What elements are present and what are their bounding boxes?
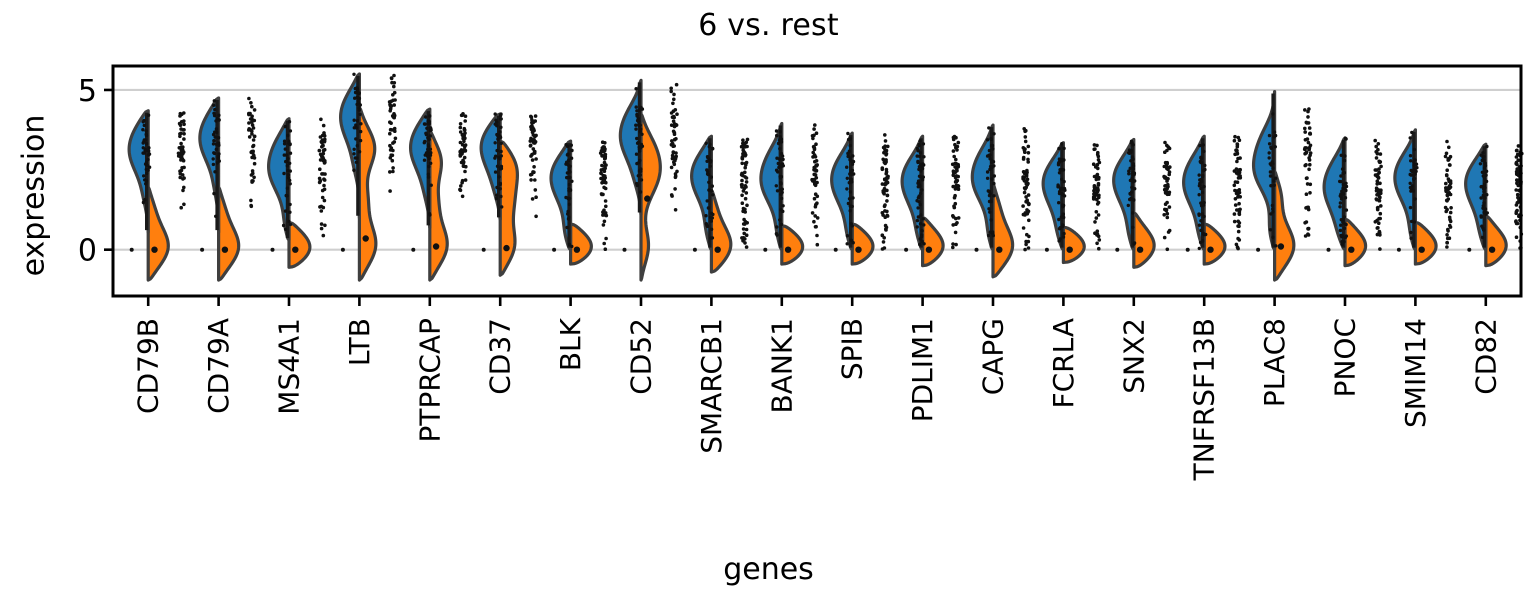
scatter-point <box>143 139 146 142</box>
violin-half-rest[interactable] <box>1345 219 1366 265</box>
scatter-point <box>391 159 395 163</box>
scatter-point <box>1446 157 1450 161</box>
x-tick-label-cd79b[interactable]: CD79B <box>132 318 165 414</box>
violin-half-rest[interactable] <box>1134 213 1154 267</box>
scatter-point <box>1236 191 1240 195</box>
scatter-point <box>846 155 849 158</box>
rest-median-dot <box>1207 247 1213 253</box>
x-tick-label-cd79a[interactable]: CD79A <box>202 318 235 414</box>
baseline-dot <box>341 248 345 252</box>
scatter-point <box>741 138 745 142</box>
scatter-point <box>424 132 427 135</box>
scatter-point <box>495 149 498 152</box>
scatter-point <box>1344 236 1347 239</box>
scatter-point <box>635 105 638 108</box>
x-tick-label-smim14[interactable]: SMIM14 <box>1399 318 1432 428</box>
scatter-point <box>1269 170 1272 173</box>
scatter-point <box>288 179 291 182</box>
scatter-point <box>778 218 781 221</box>
scatter-point <box>570 149 573 152</box>
scatter-point <box>1163 150 1167 154</box>
scatter-point <box>146 169 149 172</box>
scatter-point <box>813 160 817 164</box>
rest-median-dot <box>1419 247 1425 253</box>
x-tick-label-capg[interactable]: CAPG <box>977 318 1010 395</box>
scatter-point <box>1343 159 1346 162</box>
scatter-point <box>1413 197 1416 200</box>
scatter-point <box>566 212 569 215</box>
scatter-point <box>881 247 885 251</box>
scatter-point <box>916 219 919 222</box>
scatter-point <box>918 185 921 188</box>
scatter-point <box>534 114 538 118</box>
scatter-point <box>743 142 747 146</box>
scatter-point <box>1237 202 1241 206</box>
x-tick-label-blk[interactable]: BLK <box>554 317 587 371</box>
scatter-point <box>1268 151 1271 154</box>
scatter-point <box>851 163 854 166</box>
scatter-point <box>1479 162 1482 165</box>
violin-plot-figure: 6 vs. rest expression genes 05 CD79BCD79… <box>0 0 1537 609</box>
scatter-point <box>1447 177 1451 181</box>
scatter-point <box>283 140 286 143</box>
x-tick-label-ptprcap[interactable]: PTPRCAP <box>413 318 446 443</box>
scatter-point <box>847 202 850 205</box>
violin-half-rest[interactable] <box>1415 223 1436 265</box>
scatter-point <box>1021 204 1025 208</box>
scatter-point <box>564 196 567 199</box>
scatter-point <box>1023 150 1027 154</box>
scatter-point <box>499 114 502 117</box>
baseline-dot <box>411 248 415 252</box>
scatter-point <box>1166 167 1170 171</box>
scatter-point <box>1166 216 1170 220</box>
scatter-point <box>289 182 292 185</box>
scatter-point <box>178 169 182 173</box>
baseline-dot <box>482 248 486 252</box>
violin-half-rest[interactable] <box>923 218 943 266</box>
violin-half-rest[interactable] <box>782 226 803 264</box>
scatter-point <box>1339 229 1342 232</box>
scatter-point <box>358 113 361 116</box>
scatter-point <box>1163 236 1167 240</box>
scatter-point <box>673 138 677 142</box>
violin-half-rest[interactable] <box>430 131 447 280</box>
scatter-point <box>952 136 956 140</box>
violin-half-rest[interactable] <box>852 224 873 264</box>
scatter-point <box>990 144 993 147</box>
scatter-point <box>1338 205 1341 208</box>
scatter-point <box>494 170 497 173</box>
scatter-point <box>1379 212 1383 216</box>
scatter-point <box>957 187 961 191</box>
scatter-point <box>673 163 677 167</box>
scatter-point <box>1026 183 1030 187</box>
violin-half-rest[interactable] <box>641 114 660 280</box>
scatter-point <box>988 210 991 213</box>
scatter-point <box>494 119 497 122</box>
baseline-dot <box>130 248 134 252</box>
scatter-point <box>1131 173 1134 176</box>
scatter-point <box>603 166 607 170</box>
scatter-point <box>248 135 252 139</box>
scatter-point <box>639 124 642 127</box>
scatter-point <box>534 188 538 192</box>
scatter-point <box>601 140 605 144</box>
scatter-point <box>778 147 781 150</box>
scatter-point <box>955 174 959 178</box>
scatter-point <box>1409 182 1412 185</box>
scatter-point <box>604 211 608 215</box>
scatter-point <box>1379 192 1383 196</box>
scatter-point <box>1413 148 1416 151</box>
scatter-point <box>1234 148 1238 152</box>
scatter-point <box>148 152 151 155</box>
scatter-point <box>1445 168 1449 172</box>
scatter-point <box>814 181 818 185</box>
scatter-point <box>390 100 394 104</box>
violin-group-cd79a[interactable] <box>200 98 239 280</box>
scatter-point <box>954 231 958 235</box>
scatter-point <box>288 120 291 123</box>
violin-half-rest[interactable] <box>993 184 1013 277</box>
scatter-point <box>322 206 326 210</box>
scatter-point <box>1409 206 1412 209</box>
scatter-point <box>282 172 285 175</box>
scatter-point <box>529 178 533 182</box>
scatter-point <box>639 127 642 130</box>
scatter-point <box>319 118 323 122</box>
violin-half-rest[interactable] <box>289 223 310 268</box>
x-tick-label-pdlim1[interactable]: PDLIM1 <box>906 318 939 422</box>
scatter-point <box>426 120 429 123</box>
x-tick-label-bank1[interactable]: BANK1 <box>765 318 798 413</box>
x-tick-label-smarcb1[interactable]: SMARCB1 <box>695 318 728 454</box>
scatter-point <box>741 174 745 178</box>
violin-half-rest[interactable] <box>711 191 730 272</box>
x-tick-label-cd37[interactable]: CD37 <box>484 318 517 395</box>
violin-group-tnfrsf13b[interactable] <box>1184 136 1225 264</box>
scatter-point <box>1482 201 1485 204</box>
x-tick-label-pnoc[interactable]: PNOC <box>1329 318 1362 397</box>
scatter-point <box>1272 179 1275 182</box>
scatter-point <box>815 131 819 135</box>
violin-group-cd79b[interactable] <box>129 111 168 280</box>
scatter-point <box>1202 185 1205 188</box>
scatter-point <box>567 216 570 219</box>
scatter-point <box>1339 194 1342 197</box>
scatter-point <box>604 247 608 251</box>
scatter-point <box>1343 227 1346 230</box>
scatter-point <box>392 103 396 107</box>
scatter-point <box>1233 189 1237 193</box>
scatter-point <box>957 165 961 169</box>
scatter-point <box>423 159 426 162</box>
scatter-point <box>849 144 852 147</box>
scatter-point <box>670 166 674 170</box>
scatter-point <box>743 171 747 175</box>
scatter-point <box>1445 233 1449 237</box>
scatter-point <box>600 164 604 168</box>
scatter-point <box>671 102 675 106</box>
scatter-point <box>534 195 538 199</box>
scatter-point <box>670 111 674 115</box>
rest-median-dot <box>785 247 791 253</box>
scatter-point <box>1130 186 1133 189</box>
scatter-point <box>213 152 216 155</box>
scatter-point <box>1027 219 1031 223</box>
scatter-point <box>812 220 816 224</box>
scatter-point <box>744 220 748 224</box>
scatter-point <box>1236 142 1240 146</box>
scatter-point <box>775 232 778 235</box>
scatter-point <box>428 212 431 215</box>
scatter-point <box>1129 179 1132 182</box>
scatter-point <box>1307 148 1311 152</box>
scatter-point <box>142 174 145 177</box>
scatter-point <box>988 149 991 152</box>
scatter-point <box>1340 154 1343 157</box>
scatter-point <box>1131 211 1134 214</box>
scatter-point <box>851 196 854 199</box>
violin-half-rest[interactable] <box>1204 224 1225 264</box>
scatter-point <box>147 114 150 117</box>
scatter-point <box>289 129 292 132</box>
scatter-point <box>212 139 215 142</box>
scatter-point <box>533 150 537 154</box>
scatter-point <box>781 204 784 207</box>
scatter-point <box>214 215 217 218</box>
scatter-point <box>287 220 290 223</box>
scatter-point <box>286 187 289 190</box>
scatter-point <box>1271 207 1274 210</box>
scatter-point <box>499 182 502 185</box>
scatter-point <box>318 181 322 185</box>
scatter-point <box>212 142 215 145</box>
scatter-point <box>1339 174 1342 177</box>
scatter-point <box>1377 171 1381 175</box>
scatter-point <box>1201 191 1204 194</box>
scatter-point <box>989 231 992 234</box>
violin-half-rest[interactable] <box>1275 171 1294 280</box>
scatter-point <box>1413 177 1416 180</box>
scatter-point <box>1480 215 1483 218</box>
scatter-point <box>780 140 783 143</box>
scatter-point <box>1202 150 1205 153</box>
scatter-point <box>1447 197 1451 201</box>
scatter-point <box>533 178 537 182</box>
scatter-point <box>426 136 429 139</box>
scatter-point <box>1274 177 1277 180</box>
scatter-point <box>672 98 676 102</box>
baseline-dot <box>1186 248 1190 252</box>
scatter-point <box>1162 175 1166 179</box>
x-tick-label-cd52[interactable]: CD52 <box>625 318 658 395</box>
violin-half-rest[interactable] <box>1063 227 1084 262</box>
scatter-point <box>957 141 961 145</box>
scatter-point <box>1062 147 1065 150</box>
scatter-point <box>495 194 498 197</box>
violin-group-pdlim1[interactable] <box>902 136 943 265</box>
scatter-point <box>1096 190 1100 194</box>
scatter-point <box>1233 220 1237 224</box>
scatter-point <box>182 203 186 207</box>
scatter-point <box>954 187 958 191</box>
scatter-point <box>1339 201 1342 204</box>
scatter-point <box>1379 165 1383 169</box>
scatter-point <box>1412 189 1415 192</box>
scatter-point <box>1199 229 1202 232</box>
scatter-point <box>284 125 287 128</box>
y-axis-ticks: 05 <box>78 74 113 269</box>
scatter-point <box>707 206 710 209</box>
scatter-point <box>1444 182 1448 186</box>
scatter-point <box>672 119 676 123</box>
scatter-point <box>1237 176 1241 180</box>
scatter-point <box>812 127 816 131</box>
scatter-point <box>1485 180 1488 183</box>
scatter-point <box>390 76 394 80</box>
scatter-point <box>885 199 889 203</box>
scatter-point <box>532 165 536 169</box>
scatter-point <box>388 109 392 113</box>
scatter-point <box>1057 147 1060 150</box>
scatter-point <box>1446 237 1450 241</box>
scatter-point <box>987 207 990 210</box>
scatter-point <box>1096 153 1100 157</box>
rest-median-dot <box>644 195 650 201</box>
scatter-point <box>529 125 533 129</box>
scatter-point <box>426 148 429 151</box>
scatter-point <box>320 140 324 144</box>
scatter-point <box>393 91 397 95</box>
scatter-point <box>500 167 503 170</box>
scatter-point <box>1025 233 1029 237</box>
scatter-point <box>601 147 605 151</box>
scatter-point <box>986 177 989 180</box>
scatter-point <box>286 134 289 137</box>
scatter-point <box>1344 196 1347 199</box>
scatter-point <box>740 162 744 166</box>
scatter-point <box>745 180 749 184</box>
scatter-point <box>215 148 218 151</box>
scatter-point <box>781 188 784 191</box>
scatter-point <box>639 106 642 109</box>
scatter-point <box>1375 219 1379 223</box>
scatter-point <box>320 172 324 176</box>
violin-half-rest[interactable] <box>359 108 375 281</box>
violin-group-ptprcap[interactable] <box>411 109 448 280</box>
scatter-point <box>459 184 463 188</box>
scatter-point <box>604 237 608 241</box>
scatter-point <box>886 194 890 198</box>
scatter-point <box>1236 152 1240 156</box>
scatter-point <box>709 161 712 164</box>
x-tick-label-ltb[interactable]: LTB <box>343 318 376 366</box>
scatter-point <box>743 208 747 212</box>
scatter-point <box>1131 226 1134 229</box>
scatter-point <box>1022 127 1026 131</box>
x-tick-label-ms4a1[interactable]: MS4A1 <box>273 318 306 415</box>
scatter-point <box>745 228 749 232</box>
scatter-point <box>1308 126 1312 130</box>
x-tick-label-tnfrsf13b[interactable]: TNFRSF13B <box>1188 318 1221 481</box>
x-tick-label-spib[interactable]: SPIB <box>836 318 869 380</box>
x-tick-label-snx2[interactable]: SNX2 <box>1117 318 1150 394</box>
scatter-point <box>990 161 993 164</box>
scatter-point <box>711 193 714 196</box>
scatter-point <box>1165 201 1169 205</box>
scatter-point <box>740 179 744 183</box>
scatter-point <box>992 164 995 167</box>
scatter-point <box>1306 110 1310 114</box>
scatter-point <box>1446 186 1450 190</box>
scatter-point <box>1268 134 1271 137</box>
scatter-point <box>953 196 957 200</box>
scatter-point <box>529 115 533 119</box>
scatter-point <box>992 182 995 185</box>
x-tick-label-plac8[interactable]: PLAC8 <box>1258 318 1291 407</box>
x-tick-label-cd82[interactable]: CD82 <box>1469 318 1502 395</box>
scatter-point <box>779 208 782 211</box>
scatter-point <box>459 154 463 158</box>
scatter-point <box>568 183 571 186</box>
scatter-point <box>565 226 568 229</box>
scatter-point <box>816 195 820 199</box>
scatter-point <box>356 119 359 122</box>
scatter-point <box>1202 203 1205 206</box>
scatter-point <box>1306 115 1310 119</box>
scatter-point <box>250 156 254 160</box>
scatter-point <box>1271 236 1274 239</box>
scatter-point <box>919 203 922 206</box>
scatter-point <box>1027 151 1031 155</box>
x-tick-label-fcrla[interactable]: FCRLA <box>1047 318 1080 409</box>
scatter-point <box>953 143 957 147</box>
violin-group-smarcb1[interactable] <box>692 136 731 272</box>
scatter-point <box>1097 235 1101 239</box>
scatter-point <box>1373 139 1377 143</box>
scatter-point <box>532 133 536 137</box>
scatter-point <box>638 159 641 162</box>
violin-half-rest[interactable] <box>219 187 239 280</box>
scatter-point <box>423 122 426 125</box>
scatter-point <box>463 170 467 174</box>
scatter-point <box>850 239 853 242</box>
scatter-point <box>915 199 918 202</box>
scatter-point <box>570 144 573 147</box>
scatter-point <box>1057 218 1060 221</box>
scatter-point <box>851 154 854 157</box>
scatter-point <box>882 192 886 196</box>
violin-half-rest[interactable] <box>571 224 592 264</box>
scatter-point <box>289 152 292 155</box>
scatter-point <box>779 193 782 196</box>
rest-median-dot <box>151 247 157 253</box>
scatter-point <box>250 120 254 124</box>
scatter-point <box>1515 149 1519 153</box>
violin-half-rest[interactable] <box>148 187 168 280</box>
baseline-dot <box>1115 248 1119 252</box>
scatter-point <box>217 136 220 139</box>
scatter-point <box>1305 121 1309 125</box>
violin-half-rest[interactable] <box>1486 216 1506 266</box>
scatter-point <box>247 112 251 116</box>
scatter-point <box>600 181 604 185</box>
scatter-point <box>460 181 464 185</box>
scatter-point <box>459 130 463 134</box>
scatter-point <box>182 176 186 180</box>
